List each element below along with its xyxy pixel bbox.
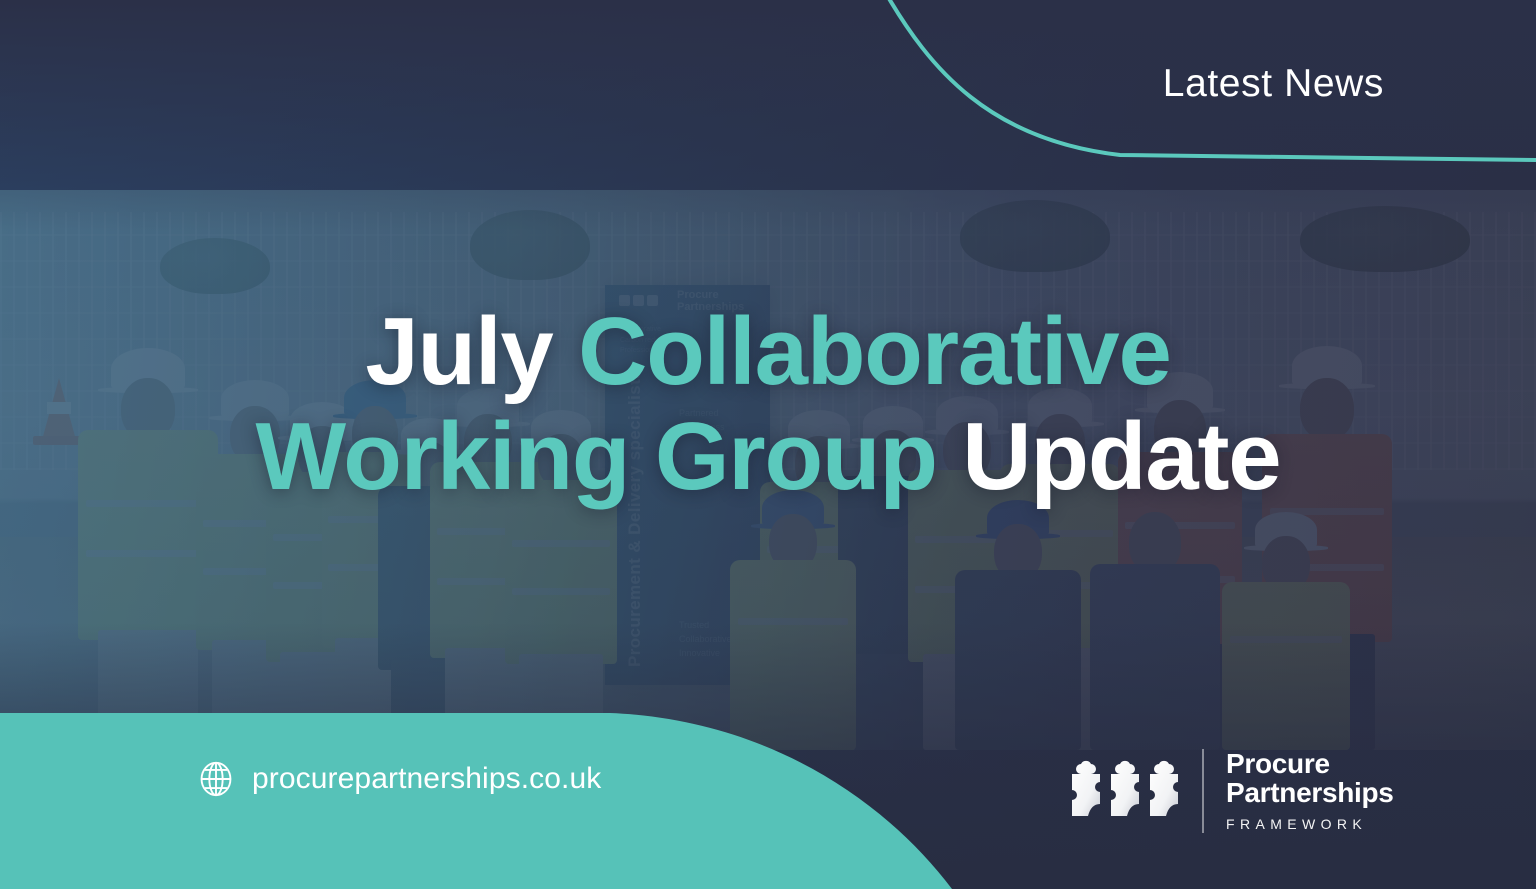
- logo-name-line2: Partnerships: [1226, 779, 1394, 808]
- headline-line-1: July Collaborative: [0, 300, 1536, 405]
- procure-partnerships-logo[interactable]: Procure Partnerships FRAMEWORK: [1070, 748, 1394, 834]
- website-link[interactable]: procurepartnerships.co.uk: [197, 760, 601, 798]
- latest-news-banner: Procure Partnerships CollaborativeCarbon…: [0, 0, 1536, 889]
- headline-word-collaborative: Collaborative: [578, 298, 1171, 405]
- page-title: July Collaborative Working Group Update: [0, 300, 1536, 509]
- headline-word-update: Update: [962, 403, 1280, 510]
- logo-wordmark: Procure Partnerships FRAMEWORK: [1226, 750, 1394, 831]
- puzzle-pieces-icon: [1070, 760, 1190, 822]
- top-decorative-curve: [0, 0, 1536, 220]
- headline-words-working-group: Working Group: [256, 403, 937, 510]
- website-url-text: procurepartnerships.co.uk: [252, 762, 601, 796]
- kicker-latest-news: Latest News: [1163, 62, 1384, 106]
- logo-divider: [1202, 749, 1204, 833]
- logo-tagline: FRAMEWORK: [1226, 816, 1394, 832]
- headline-word-july: July: [365, 298, 552, 405]
- globe-icon: [197, 760, 235, 798]
- logo-name-line1: Procure: [1226, 750, 1394, 779]
- headline-line-2: Working Group Update: [0, 405, 1536, 510]
